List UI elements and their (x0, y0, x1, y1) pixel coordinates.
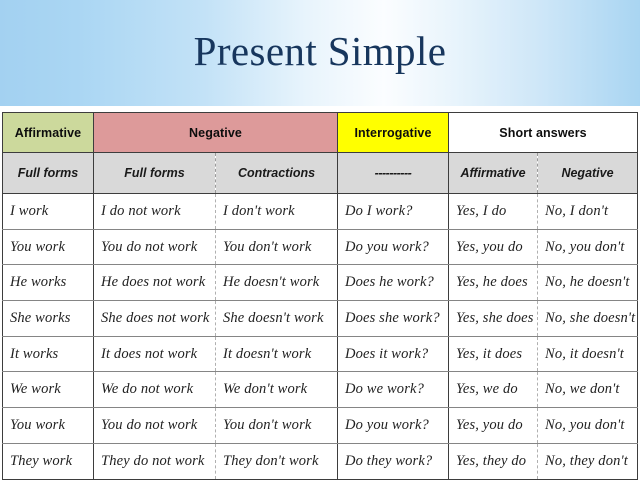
cell-negative-contraction: We don't work (216, 372, 338, 408)
cell-affirmative: You work (3, 408, 94, 444)
sub-header-short-answer-affirmative: Affirmative (449, 153, 538, 194)
cell-short-negative: No, he doesn't (538, 265, 638, 301)
cell-negative-full: He does not work (94, 265, 216, 301)
cell-affirmative: We work (3, 372, 94, 408)
group-header-negative: Negative (94, 113, 338, 153)
cell-interrogative: Do we work? (338, 372, 449, 408)
verb-conjugation-table: Affirmative Negative Interrogative Short… (2, 112, 638, 480)
table-row: She works She does not work She doesn't … (3, 301, 638, 337)
cell-negative-contraction: You don't work (216, 229, 338, 265)
cell-negative-contraction: They don't work (216, 443, 338, 479)
cell-negative-full: You do not work (94, 229, 216, 265)
cell-short-negative: No, I don't (538, 194, 638, 230)
cell-short-affirmative: Yes, we do (449, 372, 538, 408)
cell-short-affirmative: Yes, you do (449, 408, 538, 444)
cell-negative-contraction: It doesn't work (216, 336, 338, 372)
table-row: He works He does not work He doesn't wor… (3, 265, 638, 301)
cell-negative-full: I do not work (94, 194, 216, 230)
cell-negative-full: We do not work (94, 372, 216, 408)
table-group-header-row: Affirmative Negative Interrogative Short… (3, 113, 638, 153)
cell-negative-contraction: You don't work (216, 408, 338, 444)
cell-negative-full: You do not work (94, 408, 216, 444)
cell-affirmative: They work (3, 443, 94, 479)
sub-header-short-answer-negative: Negative (538, 153, 638, 194)
cell-short-negative: No, you don't (538, 229, 638, 265)
cell-negative-contraction: I don't work (216, 194, 338, 230)
cell-interrogative: Do you work? (338, 229, 449, 265)
group-header-interrogative: Interrogative (338, 113, 449, 153)
cell-interrogative: Do you work? (338, 408, 449, 444)
cell-affirmative: You work (3, 229, 94, 265)
cell-negative-contraction: He doesn't work (216, 265, 338, 301)
sub-header-interrogative-dashes: ---------- (338, 153, 449, 194)
cell-short-affirmative: Yes, he does (449, 265, 538, 301)
table-sub-header-row: Full forms Full forms Contractions -----… (3, 153, 638, 194)
page-title: Present Simple (0, 26, 640, 76)
cell-interrogative: Does she work? (338, 301, 449, 337)
table-row: It works It does not work It doesn't wor… (3, 336, 638, 372)
cell-short-affirmative: Yes, I do (449, 194, 538, 230)
sub-header-affirmative-full-forms: Full forms (3, 153, 94, 194)
cell-short-negative: No, it doesn't (538, 336, 638, 372)
cell-interrogative: Does it work? (338, 336, 449, 372)
cell-negative-full: She does not work (94, 301, 216, 337)
cell-short-affirmative: Yes, you do (449, 229, 538, 265)
cell-short-affirmative: Yes, they do (449, 443, 538, 479)
sub-header-negative-contractions: Contractions (216, 153, 338, 194)
cell-short-affirmative: Yes, it does (449, 336, 538, 372)
cell-short-negative: No, she doesn't (538, 301, 638, 337)
table-row: I work I do not work I don't work Do I w… (3, 194, 638, 230)
cell-interrogative: Does he work? (338, 265, 449, 301)
cell-negative-contraction: She doesn't work (216, 301, 338, 337)
cell-short-affirmative: Yes, she does (449, 301, 538, 337)
cell-short-negative: No, we don't (538, 372, 638, 408)
table-row: You work You do not work You don't work … (3, 229, 638, 265)
cell-affirmative: She works (3, 301, 94, 337)
cell-short-negative: No, you don't (538, 408, 638, 444)
group-header-affirmative: Affirmative (3, 113, 94, 153)
verb-conjugation-table-wrapper: Affirmative Negative Interrogative Short… (2, 112, 637, 471)
slide-canvas: Present Simple Affirmative Negative Inte… (0, 0, 640, 480)
cell-affirmative: I work (3, 194, 94, 230)
table-row: They work They do not work They don't wo… (3, 443, 638, 479)
table-row: You work You do not work You don't work … (3, 408, 638, 444)
cell-affirmative: He works (3, 265, 94, 301)
sub-header-negative-full-forms: Full forms (94, 153, 216, 194)
cell-negative-full: They do not work (94, 443, 216, 479)
cell-interrogative: Do they work? (338, 443, 449, 479)
cell-affirmative: It works (3, 336, 94, 372)
table-row: We work We do not work We don't work Do … (3, 372, 638, 408)
cell-short-negative: No, they don't (538, 443, 638, 479)
cell-interrogative: Do I work? (338, 194, 449, 230)
group-header-short-answers: Short answers (449, 113, 638, 153)
cell-negative-full: It does not work (94, 336, 216, 372)
